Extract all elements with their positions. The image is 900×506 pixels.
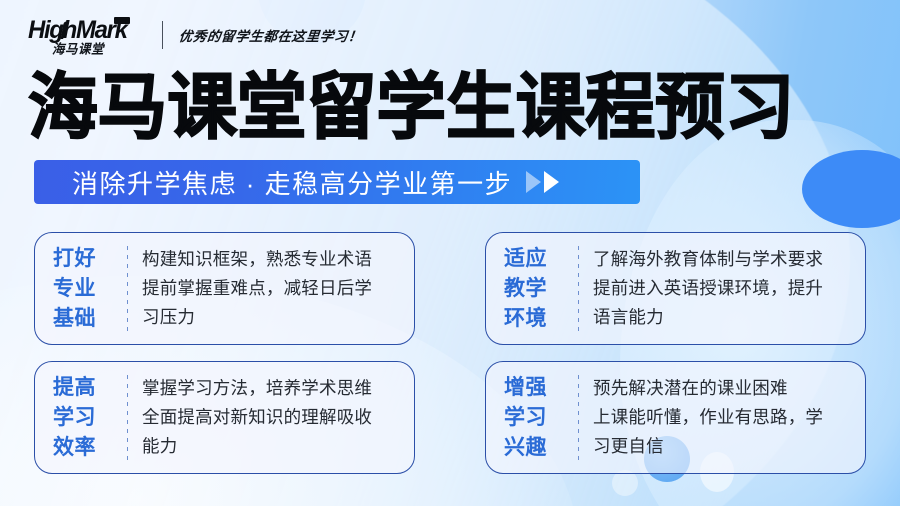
feature-card-line: 预先解决潜在的课业困难 (593, 374, 857, 403)
page-title: 海马课堂留学生课程预习 (28, 66, 881, 150)
feature-card-line: 能力 (142, 432, 406, 461)
triangle-right-icon (544, 171, 559, 193)
subtitle-text: 消除升学焦虑 · 走稳高分学业第一步 (72, 164, 512, 201)
feature-card-line: 语言能力 (593, 303, 857, 332)
dotted-divider (127, 375, 128, 461)
feature-card-line: 全面提高对新知识的理解吸收 (142, 403, 406, 432)
feature-card-line: 掌握学习方法，培养学术思维 (142, 374, 406, 403)
arrow-group (526, 171, 559, 193)
feature-card-line: 构建知识框架，熟悉专业术语 (142, 245, 406, 274)
feature-card[interactable]: 适应教学环境 了解海外教育体制与学术要求 提前进入英语授课环境，提升 语言能力 (485, 232, 866, 345)
feature-card[interactable]: 增强学习兴趣 预先解决潜在的课业困难 上课能听懂，作业有思路，学 习更自信 (485, 361, 866, 474)
feature-card-line: 提前进入英语授课环境，提升 (593, 274, 857, 303)
feature-card-label: 提高学习效率 (53, 373, 115, 463)
trademark-badge-icon (114, 17, 130, 24)
logo[interactable]: HighMark ƒ 海马课堂 (28, 15, 140, 55)
feature-card-label: 适应教学环境 (504, 244, 566, 334)
subtitle-banner: 消除升学焦虑 · 走稳高分学业第一步 (34, 160, 640, 204)
dotted-divider (578, 375, 579, 461)
feature-card-line: 了解海外教育体制与学术要求 (593, 245, 857, 274)
feature-card-line: 上课能听懂，作业有思路，学 (593, 403, 857, 432)
feature-card-body: 预先解决潜在的课业困难 上课能听懂，作业有思路，学 习更自信 (593, 374, 865, 461)
feature-card[interactable]: 提高学习效率 掌握学习方法，培养学术思维 全面提高对新知识的理解吸收 能力 (34, 361, 415, 474)
feature-card-body: 了解海外教育体制与学术要求 提前进入英语授课环境，提升 语言能力 (593, 245, 865, 332)
feature-card-line: 习压力 (142, 303, 406, 332)
feature-card-label: 增强学习兴趣 (504, 373, 566, 463)
dotted-divider (127, 246, 128, 332)
logo-wordmark-cn: 海马课堂 (52, 38, 104, 58)
feature-card-body: 掌握学习方法，培养学术思维 全面提高对新知识的理解吸收 能力 (142, 374, 414, 461)
feature-card-grid: 打好专业基础 构建知识框架，熟悉专业术语 提前掌握重难点，减轻日后学 习压力 适… (34, 232, 866, 474)
brand-tagline: 优秀的留学生都在这里学习！ (178, 25, 363, 45)
brand-header: HighMark ƒ 海马课堂 优秀的留学生都在这里学习！ (28, 14, 362, 56)
dotted-divider (578, 246, 579, 332)
feature-card[interactable]: 打好专业基础 构建知识框架，熟悉专业术语 提前掌握重难点，减轻日后学 习压力 (34, 232, 415, 345)
feature-card-line: 习更自信 (593, 432, 857, 461)
triangle-right-icon-faded (526, 171, 541, 193)
feature-card-line: 提前掌握重难点，减轻日后学 (142, 274, 406, 303)
promo-banner: HighMark ƒ 海马课堂 优秀的留学生都在这里学习！ 海马课堂留学生课程预… (0, 0, 900, 506)
feature-card-body: 构建知识框架，熟悉专业术语 提前掌握重难点，减轻日后学 习压力 (142, 245, 414, 332)
header-divider (162, 21, 163, 49)
feature-card-label: 打好专业基础 (53, 244, 115, 334)
